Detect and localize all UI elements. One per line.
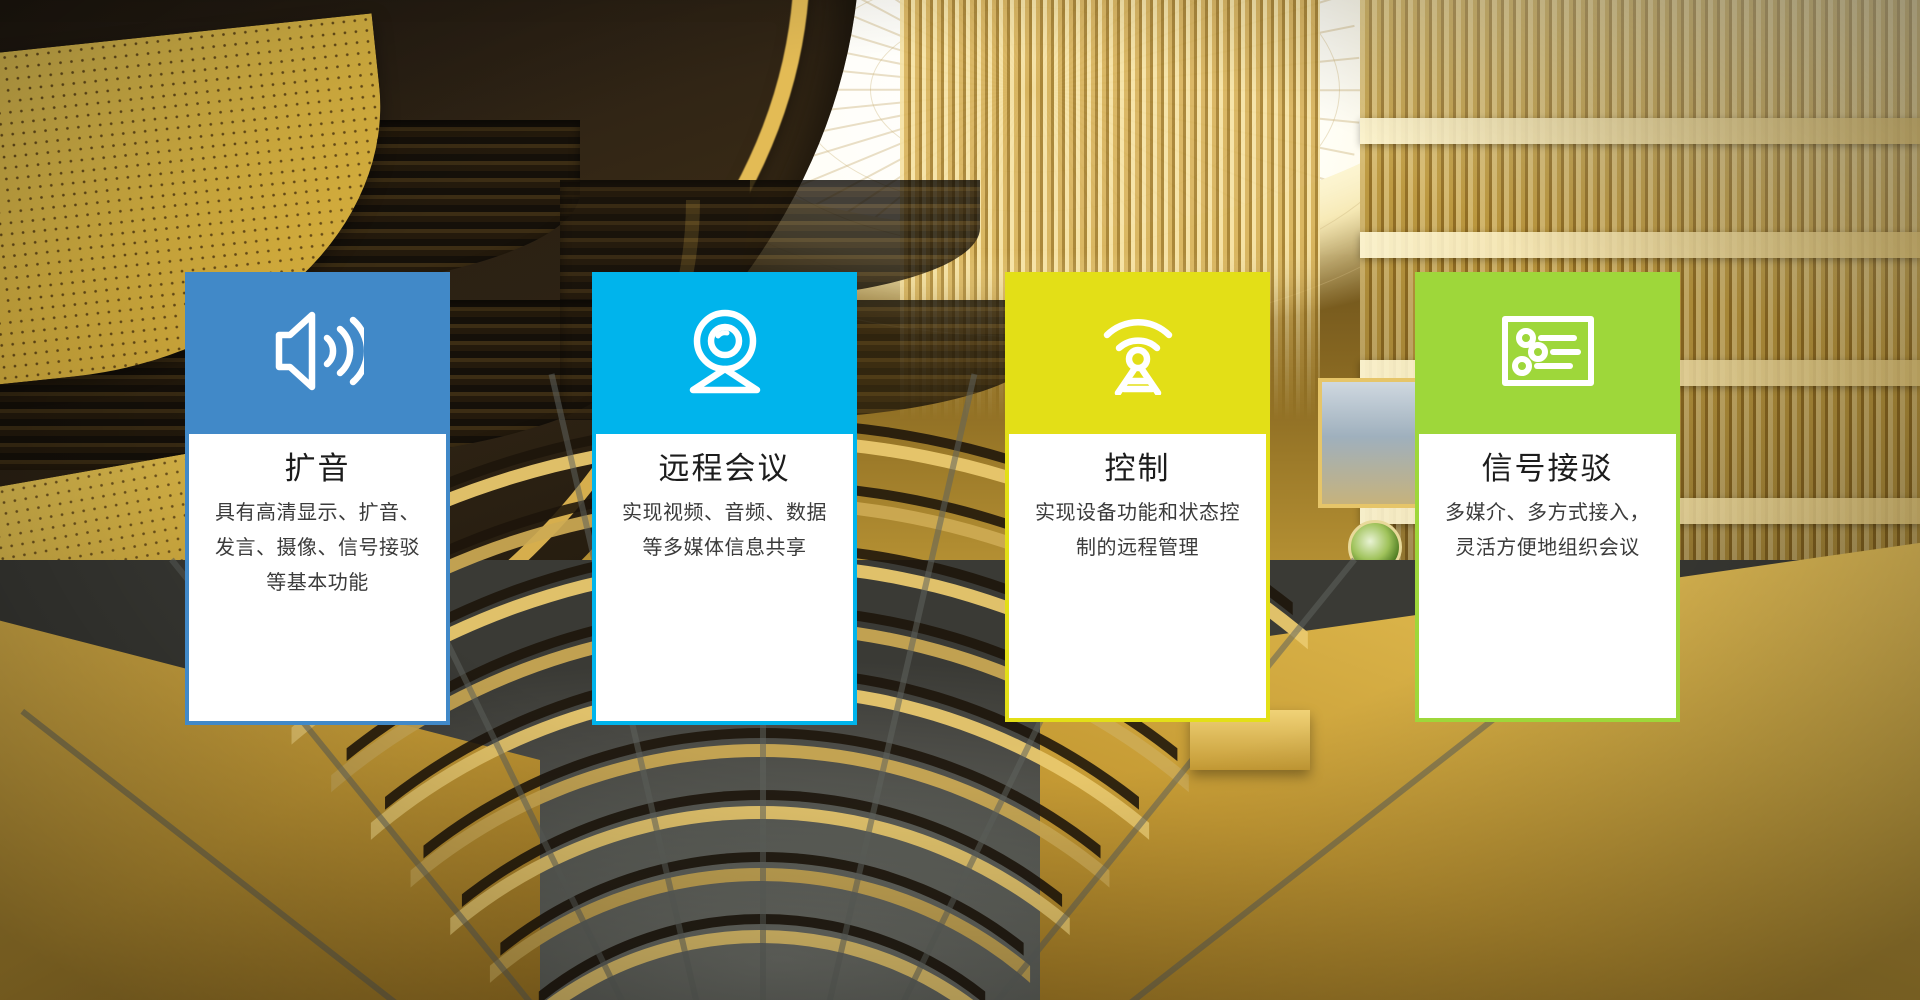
feature-card-title-remote-conference: 远程会议 [614,450,835,489]
feature-card-remote-conference[interactable]: 远程会议实现视频、音频、数据等多媒体信息共享 [592,272,857,725]
feature-cards: 扩音具有高清显示、扩音、发言、摄像、信号接驳等基本功能远程会议实现视频、音频、数… [0,0,1920,1000]
feature-card-body-amplification: 扩音具有高清显示、扩音、发言、摄像、信号接驳等基本功能 [185,430,450,725]
feature-card-title-control: 控制 [1027,450,1248,489]
signal-panel-icon [1415,272,1680,430]
feature-card-desc-amplification: 具有高清显示、扩音、发言、摄像、信号接驳等基本功能 [207,495,428,600]
speaker-volume-icon [185,272,450,430]
feature-card-desc-remote-conference: 实现视频、音频、数据等多媒体信息共享 [614,495,835,565]
feature-card-control[interactable]: 控制实现设备功能和状态控制的远程管理 [1005,272,1270,722]
feature-card-body-control: 控制实现设备功能和状态控制的远程管理 [1005,430,1270,722]
webcam-icon [592,272,857,430]
feature-card-body-signal-access: 信号接驳多媒介、多方式接入，灵活方便地组织会议 [1415,430,1680,722]
feature-card-desc-signal-access: 多媒介、多方式接入，灵活方便地组织会议 [1437,495,1658,565]
feature-card-signal-access[interactable]: 信号接驳多媒介、多方式接入，灵活方便地组织会议 [1415,272,1680,722]
feature-card-body-remote-conference: 远程会议实现视频、音频、数据等多媒体信息共享 [592,430,857,725]
feature-card-amplification[interactable]: 扩音具有高清显示、扩音、发言、摄像、信号接驳等基本功能 [185,272,450,725]
feature-card-title-signal-access: 信号接驳 [1437,450,1658,489]
feature-card-title-amplification: 扩音 [207,450,428,489]
feature-card-desc-control: 实现设备功能和状态控制的远程管理 [1027,495,1248,565]
broadcast-tower-icon [1005,272,1270,430]
